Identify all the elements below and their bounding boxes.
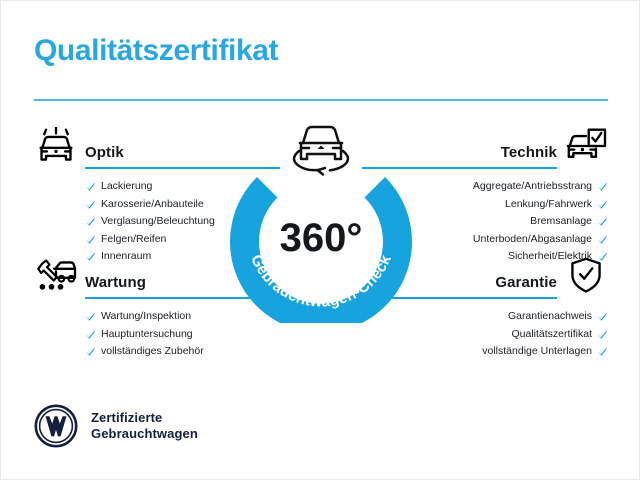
- list-item: Karosserie/Anbauteile: [85, 196, 244, 214]
- check-icon: [597, 346, 608, 357]
- check-icon: [597, 199, 608, 210]
- page-title: Qualitätszertifikat: [34, 34, 278, 68]
- shield-check-icon: [564, 257, 608, 295]
- list-item: Aggregate/Antriebsstrang: [473, 178, 608, 196]
- list-item: vollständiges Zubehör: [85, 343, 244, 361]
- section-header-technik: Technik: [398, 129, 608, 167]
- list-item-label: Felgen/Reifen: [101, 231, 166, 249]
- certificate-page: Qualitätszertifikat: [0, 0, 640, 480]
- list-item-label: Bremsanlage: [530, 213, 592, 231]
- check-icon: [85, 311, 96, 322]
- section-title-optik: Optik: [85, 144, 124, 161]
- list-item-label: Lenkung/Fahrwerk: [505, 196, 592, 214]
- check-icon: [597, 234, 608, 245]
- vw-certified-logo: Zertifizierte Gebrauchtwagen: [34, 404, 198, 448]
- list-item: Lenkung/Fahrwerk: [505, 196, 608, 214]
- check-icon: [597, 329, 608, 340]
- list-item: vollständige Unterlagen: [482, 343, 608, 361]
- list-item-label: Lackierung: [101, 178, 152, 196]
- check-icon: [85, 216, 96, 227]
- list-item: Hauptuntersuchung: [85, 326, 244, 344]
- list-item: Bremsanlage: [530, 213, 608, 231]
- car-rotate-360-icon: [279, 119, 363, 177]
- section-header-garantie: Garantie: [398, 259, 608, 297]
- badge-center-label: 360°: [280, 216, 363, 260]
- vw-logo-icon: [34, 404, 78, 448]
- check-icon: [597, 216, 608, 227]
- list-item: Unterboden/Abgasanlage: [473, 231, 608, 249]
- list-item-label: Aggregate/Antriebsstrang: [473, 178, 592, 196]
- title-divider: [34, 99, 608, 101]
- section-title-wartung: Wartung: [85, 274, 146, 291]
- car-shine-icon: [34, 127, 78, 165]
- list-item: Verglasung/Beleuchtung: [85, 213, 244, 231]
- check-icon: [85, 346, 96, 357]
- list-item-label: Karosserie/Anbauteile: [101, 196, 204, 214]
- list-item-label: Hauptuntersuchung: [101, 326, 193, 344]
- section-wartung: Wartung Wartung/Inspektion Hauptuntersuc…: [34, 259, 244, 377]
- section-title-garantie: Garantie: [495, 274, 557, 291]
- checklist-garantie: Garantienachweis Qualitätszertifikat vol…: [398, 308, 608, 361]
- car-checkbox-icon: [564, 127, 608, 165]
- list-item: Wartung/Inspektion: [85, 308, 244, 326]
- list-item-label: Qualitätszertifikat: [511, 326, 592, 344]
- check-icon: [85, 234, 96, 245]
- list-item: Felgen/Reifen: [85, 231, 244, 249]
- checklist-optik: Lackierung Karosserie/Anbauteile Verglas…: [85, 178, 244, 266]
- list-item-label: vollständiges Zubehör: [101, 343, 204, 361]
- check-icon: [85, 181, 96, 192]
- list-item-label: Wartung/Inspektion: [101, 308, 191, 326]
- checklist-wartung: Wartung/Inspektion Hauptuntersuchung vol…: [85, 308, 244, 361]
- section-header-optik: Optik: [34, 129, 244, 167]
- section-garantie: Garantie Garantienachweis Qualitätszerti…: [398, 259, 608, 377]
- check-icon: [597, 311, 608, 322]
- check-icon: [85, 329, 96, 340]
- section-title-technik: Technik: [501, 144, 557, 161]
- list-item: Garantienachweis: [508, 308, 608, 326]
- list-item: Lackierung: [85, 178, 244, 196]
- wrench-car-icon: [34, 257, 78, 295]
- list-item-label: Verglasung/Beleuchtung: [101, 213, 215, 231]
- list-item-label: vollständige Unterlagen: [482, 343, 592, 361]
- list-item: Qualitätszertifikat: [511, 326, 608, 344]
- section-header-wartung: Wartung: [34, 259, 244, 297]
- checklist-technik: Aggregate/Antriebsstrang Lenkung/Fahrwer…: [398, 178, 608, 266]
- check-icon: [597, 181, 608, 192]
- check-icon: [85, 199, 96, 210]
- list-item-label: Unterboden/Abgasanlage: [473, 231, 592, 249]
- list-item-label: Garantienachweis: [508, 308, 592, 326]
- vw-logo-line2: Gebrauchtwagen: [91, 426, 198, 442]
- vw-logo-line1: Zertifizierte: [91, 410, 198, 426]
- vw-logo-text: Zertifizierte Gebrauchtwagen: [91, 410, 198, 442]
